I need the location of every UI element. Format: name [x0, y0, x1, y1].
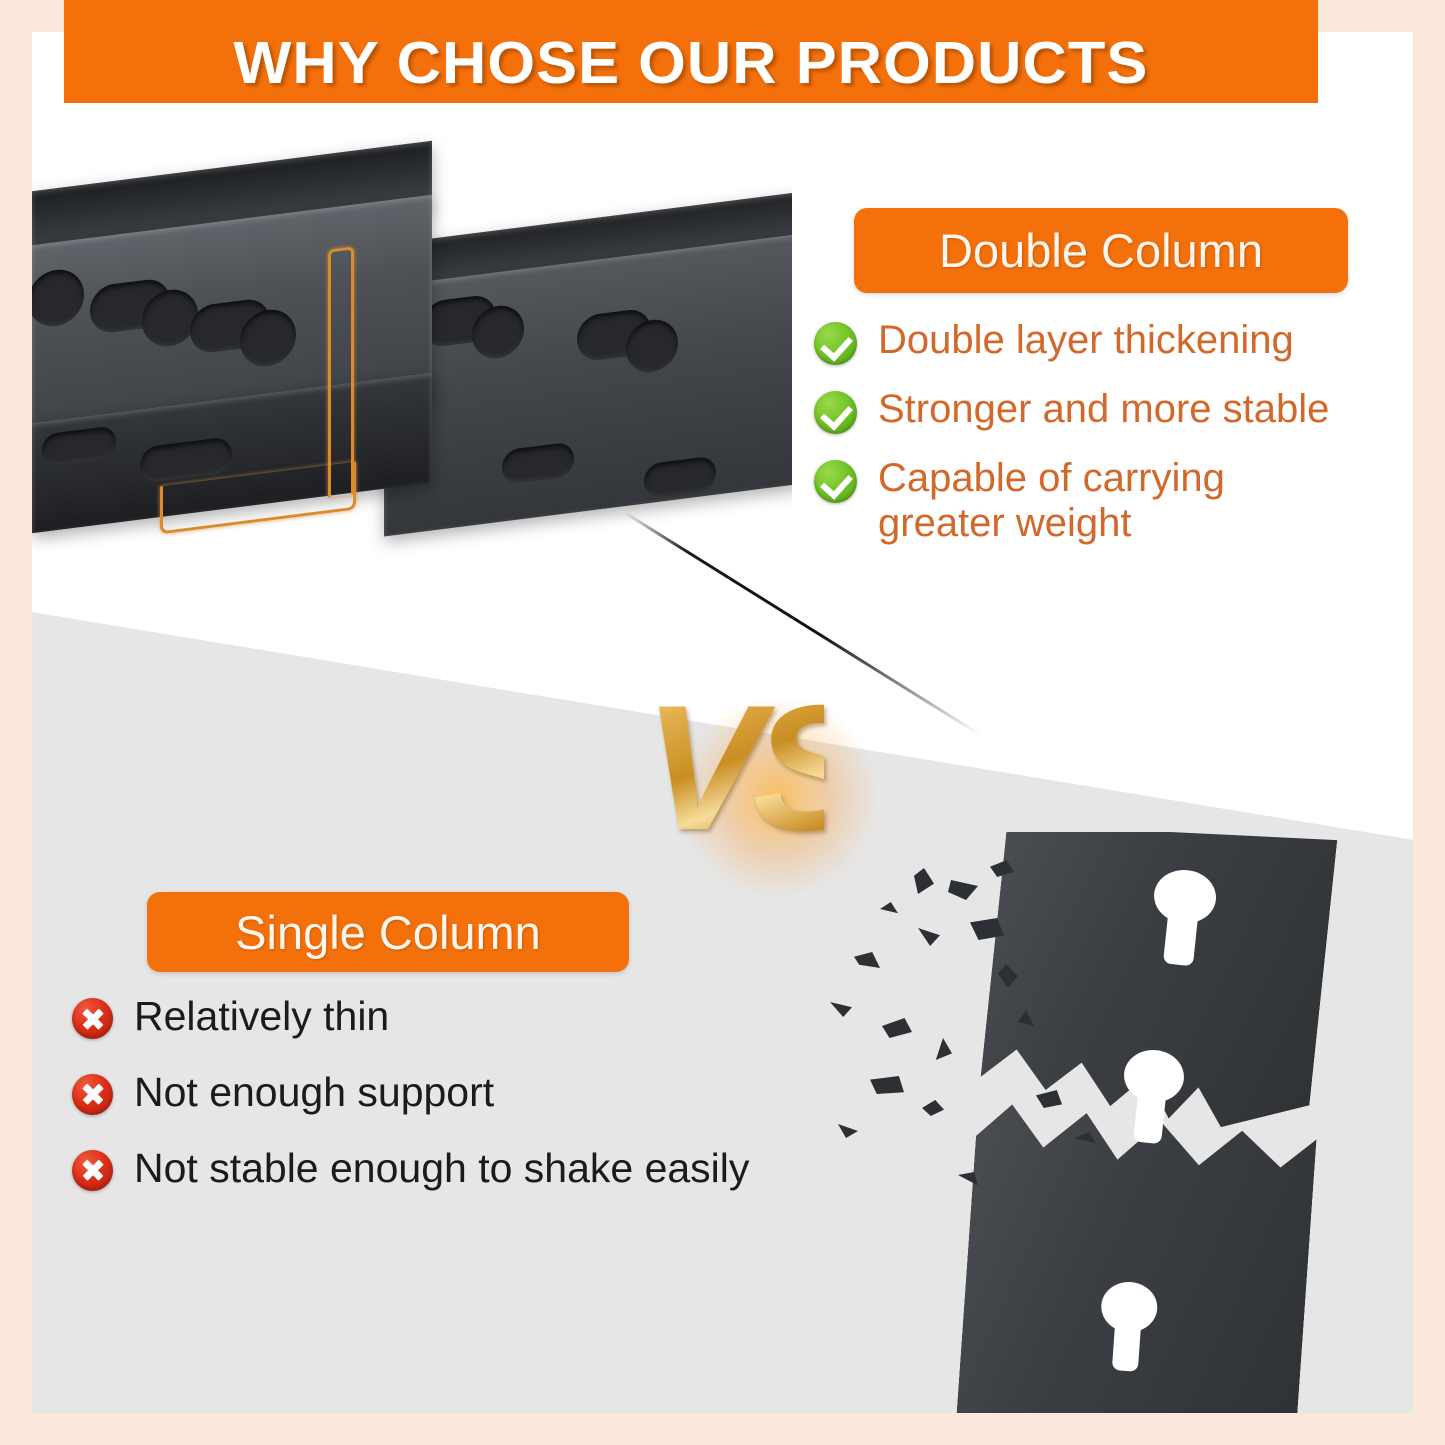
single-column-badge-label: Single Column — [235, 905, 541, 960]
list-item: Not stable enough to shake easily — [72, 1146, 862, 1192]
x-circle-icon — [72, 1074, 113, 1115]
list-item: Stronger and more stable — [814, 387, 1394, 434]
double-column-benefits-list: Double layer thickening Stronger and mor… — [814, 318, 1394, 568]
double-layer-steel-beam-photo — [32, 130, 792, 570]
debris-shard — [918, 928, 940, 946]
debris-shard — [1036, 1090, 1062, 1108]
panel-keyhole-slot — [1117, 1047, 1186, 1143]
list-item: Relatively thin — [72, 994, 862, 1040]
list-item: Not enough support — [72, 1070, 862, 1116]
content-canvas: VS — [32, 32, 1413, 1413]
debris-shard — [948, 880, 978, 900]
check-circle-icon — [814, 322, 857, 365]
panel-keyhole-slot — [1097, 1280, 1159, 1370]
check-circle-icon — [814, 460, 857, 503]
debris-shard — [880, 902, 898, 916]
single-column-drawbacks-list: Relatively thin Not enough support Not s… — [72, 994, 862, 1222]
panel-keyhole-slot — [1147, 867, 1218, 965]
page-header-bar: WHY CHOSE OUR PRODUCTS — [64, 0, 1318, 103]
infographic-page: VS — [0, 0, 1445, 1445]
debris-shard — [854, 952, 880, 968]
list-item: Capable of carrying greater weight — [814, 456, 1394, 546]
double-column-badge-label: Double Column — [939, 223, 1263, 278]
debris-shard — [870, 1076, 904, 1094]
double-column-badge: Double Column — [854, 208, 1348, 293]
shattered-single-column-panel-photo — [822, 832, 1413, 1413]
vs-label: VS — [644, 668, 824, 878]
debris-shard — [914, 868, 934, 894]
page-title: WHY CHOSE OUR PRODUCTS — [234, 29, 1149, 97]
debris-shard — [882, 1018, 912, 1038]
list-item: Double layer thickening — [814, 318, 1394, 365]
double-layer-edge-highlight — [328, 246, 354, 497]
beam-back-front-face — [384, 233, 792, 536]
debris-shard — [934, 1038, 952, 1060]
list-item-label: Stronger and more stable — [878, 387, 1329, 432]
single-column-badge: Single Column — [147, 892, 629, 972]
list-item-label: Double layer thickening — [878, 318, 1294, 363]
x-circle-icon — [72, 998, 113, 1039]
list-item-label: Capable of carrying greater weight — [878, 456, 1298, 546]
debris-shard — [922, 1100, 944, 1116]
list-item-label: Not stable enough to shake easily — [134, 1146, 749, 1192]
list-item-label: Not enough support — [134, 1070, 494, 1116]
list-item-label: Relatively thin — [134, 994, 389, 1040]
check-circle-icon — [814, 391, 857, 434]
x-circle-icon — [72, 1150, 113, 1191]
